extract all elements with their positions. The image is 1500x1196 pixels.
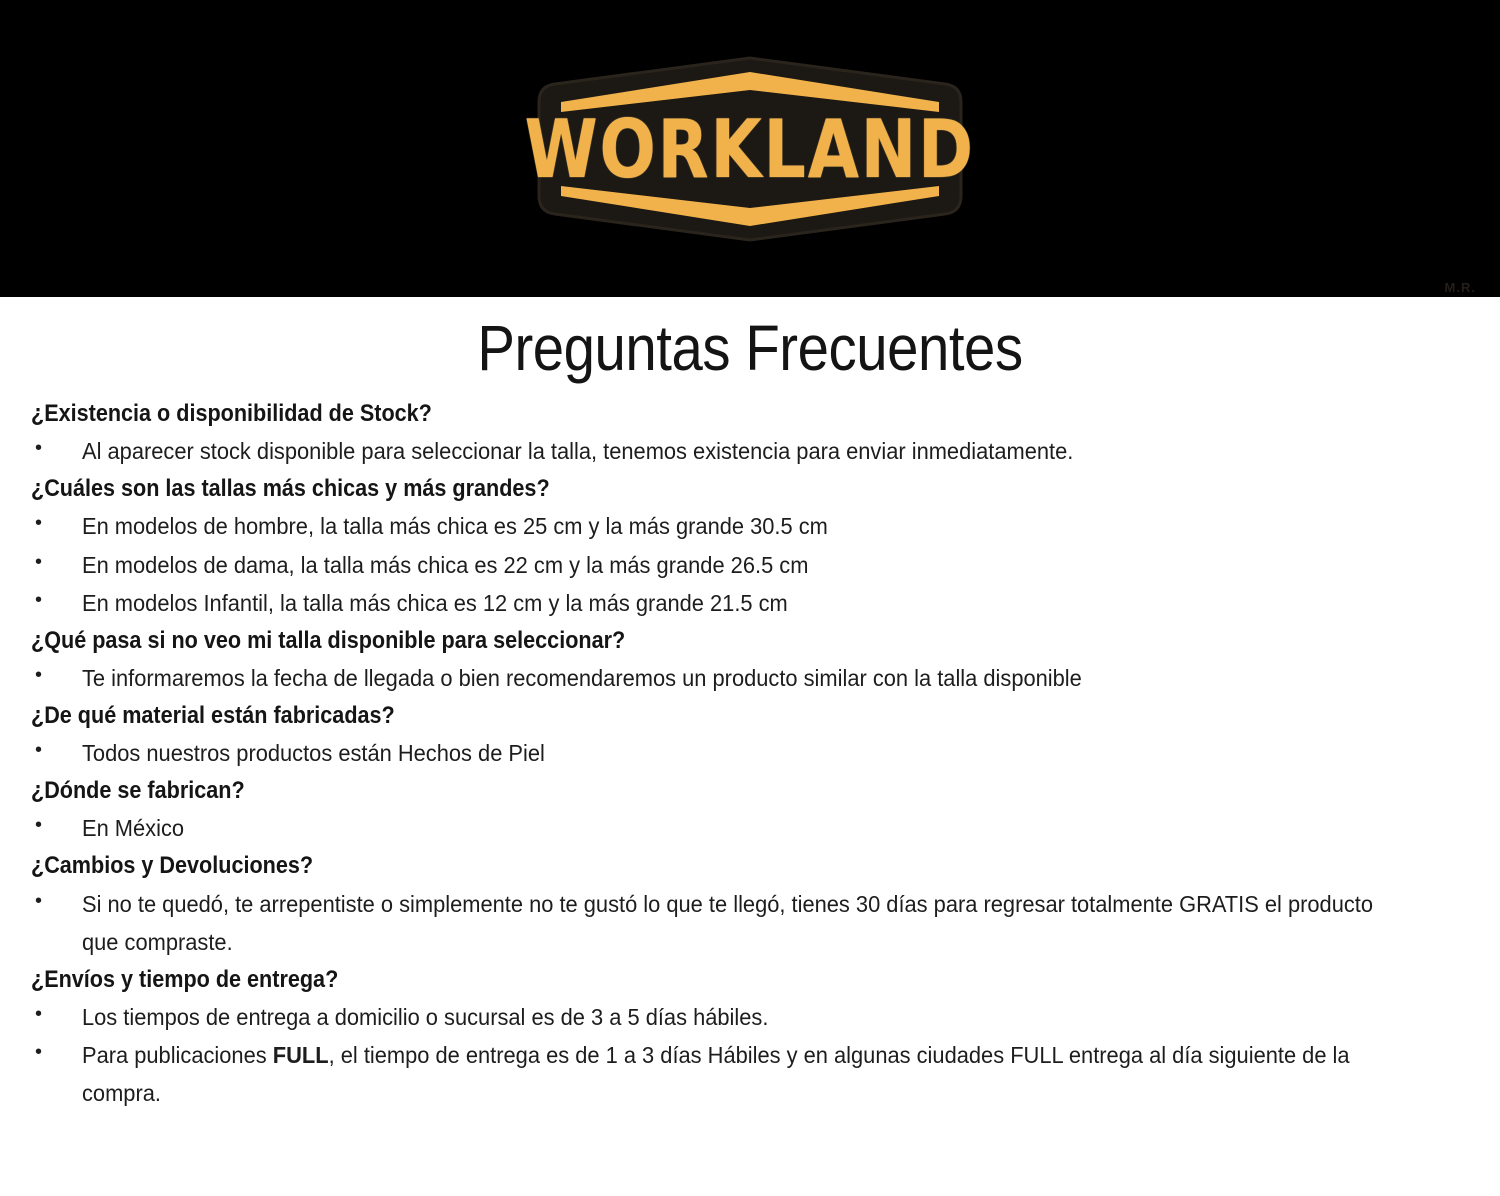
faq-question: ¿Dónde se fabrican?	[31, 772, 1330, 809]
faq-answer-text: Para publicaciones FULL, el tiempo de en…	[82, 1036, 1377, 1112]
faq-answer: •En modelos Infantil, la talla más chica…	[31, 584, 1474, 622]
bullet-icon: •	[31, 507, 82, 539]
faq-block: ¿Dónde se fabrican?•En México	[31, 772, 1474, 847]
faq-answer-text: Los tiempos de entrega a domicilio o suc…	[82, 998, 1377, 1036]
bullet-icon: •	[31, 546, 82, 578]
faq-answer-text: Te informaremos la fecha de llegada o bi…	[82, 659, 1377, 697]
faq-answer: •Para publicaciones FULL, el tiempo de e…	[31, 1036, 1474, 1112]
faq-question: ¿Cambios y Devoluciones?	[31, 847, 1330, 884]
faq-answer-text: En modelos de dama, la talla más chica e…	[82, 546, 1377, 584]
workland-logo: WORKLAND	[515, 54, 985, 244]
faq-block: ¿Cuáles son las tallas más chicas y más …	[31, 470, 1474, 621]
bullet-icon: •	[31, 734, 82, 766]
bullet-icon: •	[31, 584, 82, 616]
faq-question: ¿De qué material están fabricadas?	[31, 697, 1330, 734]
faq-page: Preguntas Frecuentes ¿Existencia o dispo…	[0, 311, 1500, 1112]
bullet-icon: •	[31, 1036, 82, 1068]
logo-badge-shape	[515, 54, 985, 244]
faq-answer-text: En modelos de hombre, la talla más chica…	[82, 507, 1377, 545]
faq-block: ¿Existencia o disponibilidad de Stock?•A…	[31, 395, 1474, 470]
faq-answer: •En modelos de hombre, la talla más chic…	[31, 507, 1474, 545]
faq-answer-text: Al aparecer stock disponible para selecc…	[82, 432, 1377, 470]
faq-answer: •Todos nuestros productos están Hechos d…	[31, 734, 1474, 772]
faq-answer-text: Todos nuestros productos están Hechos de…	[82, 734, 1377, 772]
faq-answer: •Te informaremos la fecha de llegada o b…	[31, 659, 1474, 697]
faq-question: ¿Envíos y tiempo de entrega?	[31, 961, 1330, 998]
bullet-icon: •	[31, 659, 82, 691]
faq-block: ¿De qué material están fabricadas?•Todos…	[31, 697, 1474, 772]
bullet-icon: •	[31, 998, 82, 1030]
faq-block: ¿Qué pasa si no veo mi talla disponible …	[31, 622, 1474, 697]
faq-question: ¿Cuáles son las tallas más chicas y más …	[31, 470, 1330, 507]
faq-block: ¿Envíos y tiempo de entrega?•Los tiempos…	[31, 961, 1474, 1112]
faq-answer: •Al aparecer stock disponible para selec…	[31, 432, 1474, 470]
page-title: Preguntas Frecuentes	[90, 311, 1410, 385]
faq-block: ¿Cambios y Devoluciones?•Si no te quedó,…	[31, 847, 1474, 960]
faq-question: ¿Qué pasa si no veo mi talla disponible …	[31, 622, 1330, 659]
trademark-icon: M.R.	[1445, 280, 1476, 295]
faq-list: ¿Existencia o disponibilidad de Stock?•A…	[0, 395, 1500, 1112]
faq-answer-text: Si no te quedó, te arrepentiste o simple…	[82, 885, 1377, 961]
bullet-icon: •	[31, 432, 82, 464]
faq-answer: •Los tiempos de entrega a domicilio o su…	[31, 998, 1474, 1036]
bullet-icon: •	[31, 809, 82, 841]
faq-question: ¿Existencia o disponibilidad de Stock?	[31, 395, 1330, 432]
faq-answer: •Si no te quedó, te arrepentiste o simpl…	[31, 885, 1474, 961]
faq-answer: •En México	[31, 809, 1474, 847]
faq-answer-text: En México	[82, 809, 1377, 847]
faq-answer-text: En modelos Infantil, la talla más chica …	[82, 584, 1377, 622]
bullet-icon: •	[31, 885, 82, 917]
faq-answer: •En modelos de dama, la talla más chica …	[31, 546, 1474, 584]
header-band: WORKLAND M.R.	[0, 0, 1500, 297]
